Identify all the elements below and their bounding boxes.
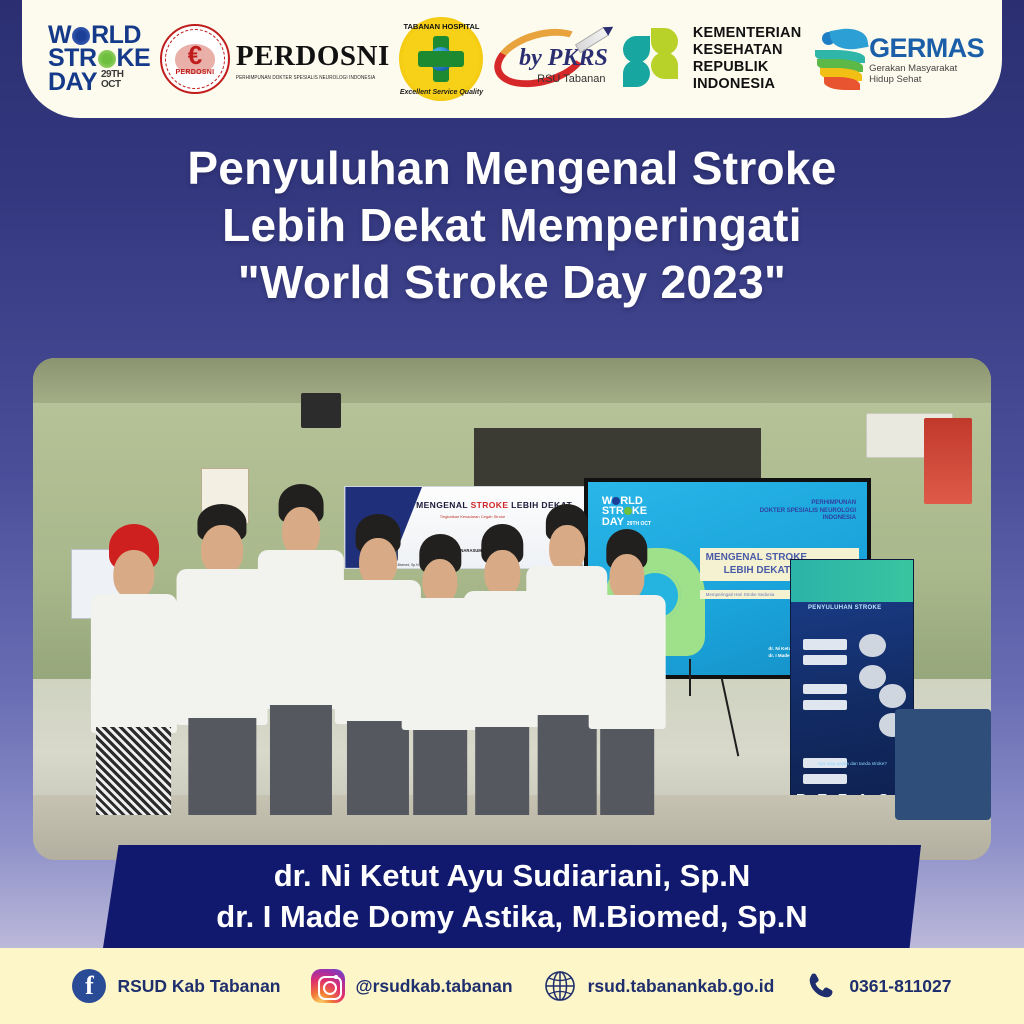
kemenkes-mark-icon xyxy=(623,28,685,90)
ct-scan-image xyxy=(879,684,906,708)
globe-icon xyxy=(429,47,453,71)
globe-icon[interactable] xyxy=(543,969,577,1003)
wsd-date-2: OCT xyxy=(101,79,121,90)
wall-poster-red xyxy=(924,418,972,503)
ct-scan-image xyxy=(859,665,886,689)
phone-label: 0361-811027 xyxy=(849,976,951,997)
event-photo: MENGENAL STROKE LEBIH DEKAT Tingkatkan K… xyxy=(33,358,991,860)
germas-logo: GERMAS Gerakan Masyarakat Hidup Sehat xyxy=(811,26,984,92)
green-cross-icon xyxy=(418,36,464,82)
kemenkes-line-2: KESEHATAN xyxy=(693,42,802,59)
slide-org-3: INDONESIA xyxy=(760,515,856,523)
world-stroke-day-logo: WRLD STRKE DAY29THOCT xyxy=(48,24,150,94)
facebook-icon[interactable]: f xyxy=(72,969,106,1003)
rollup-title: PENYULUHAN STROKE xyxy=(808,605,881,611)
banner-subtitle: Tingkatkan Kesadaran Cegah Stroke xyxy=(440,514,505,519)
contact-phone[interactable]: 0361-811027 xyxy=(804,969,951,1003)
pkrs-subtitle: RSU Tabanan xyxy=(537,73,605,85)
instagram-label: @rsudkab.tabanan xyxy=(356,976,513,997)
germas-figure-icon xyxy=(811,26,869,92)
banner-title-a: MENGENAL xyxy=(416,500,470,510)
page-title: Penyuluhan Mengenal Stroke Lebih Dekat M… xyxy=(0,140,1024,311)
website-label: rsud.tabanankab.go.id xyxy=(588,976,775,997)
germas-wordmark: GERMAS xyxy=(869,33,984,64)
slide-wsd-ke: KE xyxy=(632,505,647,517)
kemenkes-line-4: INDONESIA xyxy=(693,76,802,93)
slide-wsd-logo: WRLD STRKE DAY 29TH OCT xyxy=(602,496,651,527)
slide-organization: PERHIMPUNAN DOKTER SPESIALIS NEUROLOGI I… xyxy=(760,500,856,523)
person-staff xyxy=(177,504,268,815)
kemenkes-logo: KEMENTERIAN KESEHATAN REPUBLIK INDONESIA xyxy=(623,25,802,92)
person-staff xyxy=(258,484,344,815)
contact-instagram[interactable]: @rsudkab.tabanan xyxy=(311,969,513,1003)
title-line-1: Penyuluhan Mengenal Stroke xyxy=(0,140,1024,197)
germas-sub-1: Gerakan Masyarakat xyxy=(869,64,984,75)
tabanan-arc-top: TABANAN HOSPITAL xyxy=(399,22,483,31)
perdosni-seal-label: PERDOSNI xyxy=(162,69,228,76)
slide-wsd-date: 29TH OCT xyxy=(627,521,651,527)
wsd-blue-dot-icon xyxy=(72,27,90,45)
phone-icon[interactable] xyxy=(804,969,838,1003)
tabanan-arc-bottom: Excellent Service Quality xyxy=(399,89,483,96)
slide-org-1: PERHIMPUNAN xyxy=(760,500,856,508)
wsd-ke: KE xyxy=(117,44,151,72)
title-line-3: "World Stroke Day 2023" xyxy=(0,254,1024,311)
wsd-day: DAY xyxy=(48,68,97,96)
person-traditional-attire xyxy=(90,524,176,815)
perdosni-subtitle: PERHIMPUNAN DOKTER SPESIALIS NEUROLOGI I… xyxy=(236,74,390,80)
perdosni-logo: € PERDOSNI PERDOSNI PERHIMPUNAN DOKTER S… xyxy=(160,24,390,94)
facebook-label: RSUD Kab Tabanan xyxy=(117,976,280,997)
footer-contact-bar: f RSUD Kab Tabanan @rsudkab.tabanan rsud… xyxy=(0,948,1024,1024)
speaker-line-1: dr. Ni Ketut Ayu Sudiariani, Sp.N xyxy=(274,856,751,896)
title-line-2: Lebih Dekat Memperingati xyxy=(0,197,1024,254)
contact-website[interactable]: rsud.tabanankab.go.id xyxy=(543,969,775,1003)
banner-title-red: STROKE xyxy=(471,500,509,510)
kemenkes-line-3: REPUBLIK xyxy=(693,59,802,76)
instagram-icon[interactable] xyxy=(311,969,345,1003)
wsd-green-dot-icon xyxy=(98,50,116,68)
waiting-chairs xyxy=(895,709,991,819)
kemenkes-line-1: KEMENTERIAN xyxy=(693,25,802,42)
pkrs-logo: by PKRS RSU Tabanan xyxy=(493,23,613,95)
room-ceiling xyxy=(33,358,991,403)
speaker-line-2: dr. I Made Domy Astika, M.Biomed, Sp.N xyxy=(216,897,807,937)
wall-speaker-icon xyxy=(301,393,341,428)
tabanan-hospital-logo: TABANAN HOSPITAL Excellent Service Quali… xyxy=(399,17,483,101)
person-staff xyxy=(589,529,666,815)
perdosni-wordmark: PERDOSNI xyxy=(236,40,390,73)
caduceus-icon: € xyxy=(188,40,202,71)
germas-sub-2: Hidup Sehat xyxy=(869,75,984,86)
speaker-names-banner: dr. Ni Ketut Ayu Sudiariani, Sp.N dr. I … xyxy=(103,845,921,948)
contact-facebook[interactable]: f RSUD Kab Tabanan xyxy=(72,969,280,1003)
slide-org-2: DOKTER SPESIALIS NEUROLOGI xyxy=(760,508,856,516)
header-logo-bar: WRLD STRKE DAY29THOCT € PERDOSNI PERDOSN… xyxy=(22,0,1002,118)
ct-scan-image xyxy=(859,634,886,658)
perdosni-seal-icon: € PERDOSNI xyxy=(160,24,230,94)
pkrs-wordmark: by PKRS xyxy=(519,45,608,72)
